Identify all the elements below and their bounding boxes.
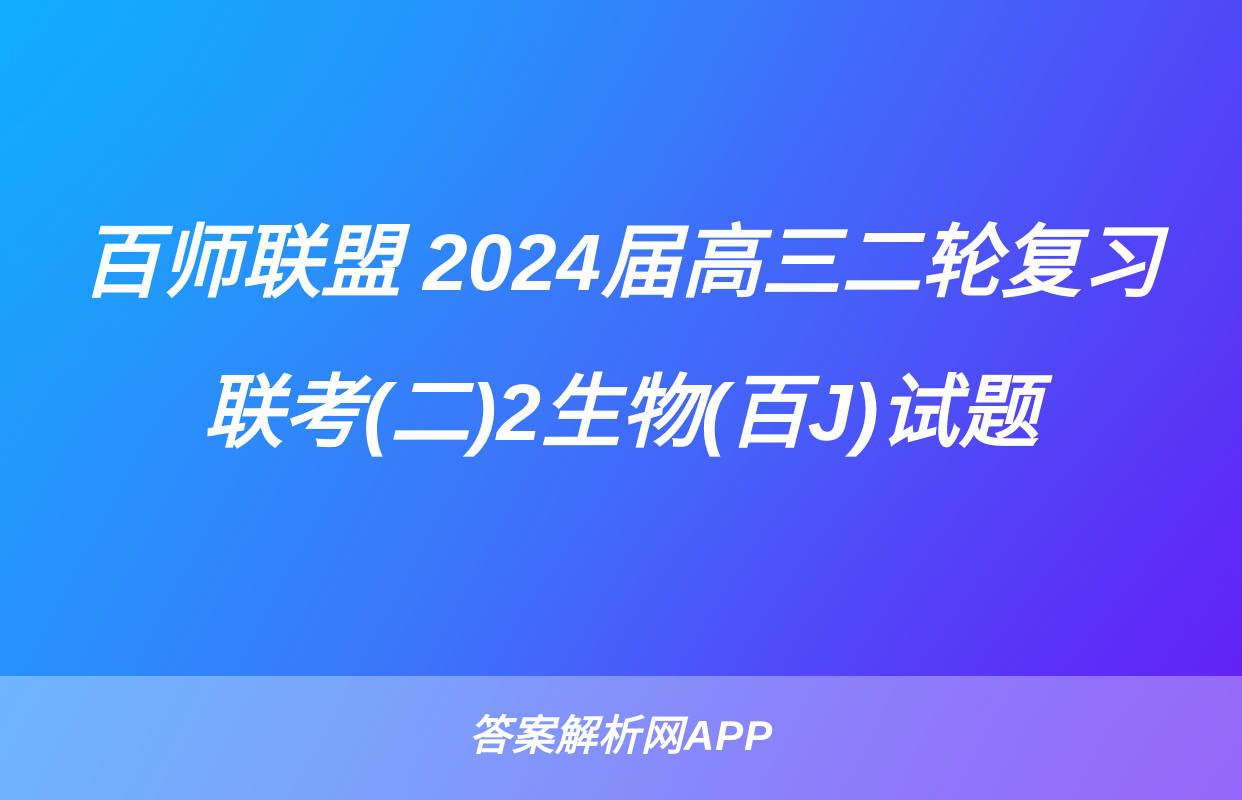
poster-card: 百师联盟 2024届高三二轮复习联考(二)2生物(百J)试题 答案解析网APP [0,0,1242,800]
watermark-band: 答案解析网APP [0,676,1242,800]
title-area: 百师联盟 2024届高三二轮复习联考(二)2生物(百J)试题 [0,0,1242,676]
page-title: 百师联盟 2024届高三二轮复习联考(二)2生物(百J)试题 [74,188,1168,488]
watermark-app-label: 答案解析网APP [469,715,773,757]
